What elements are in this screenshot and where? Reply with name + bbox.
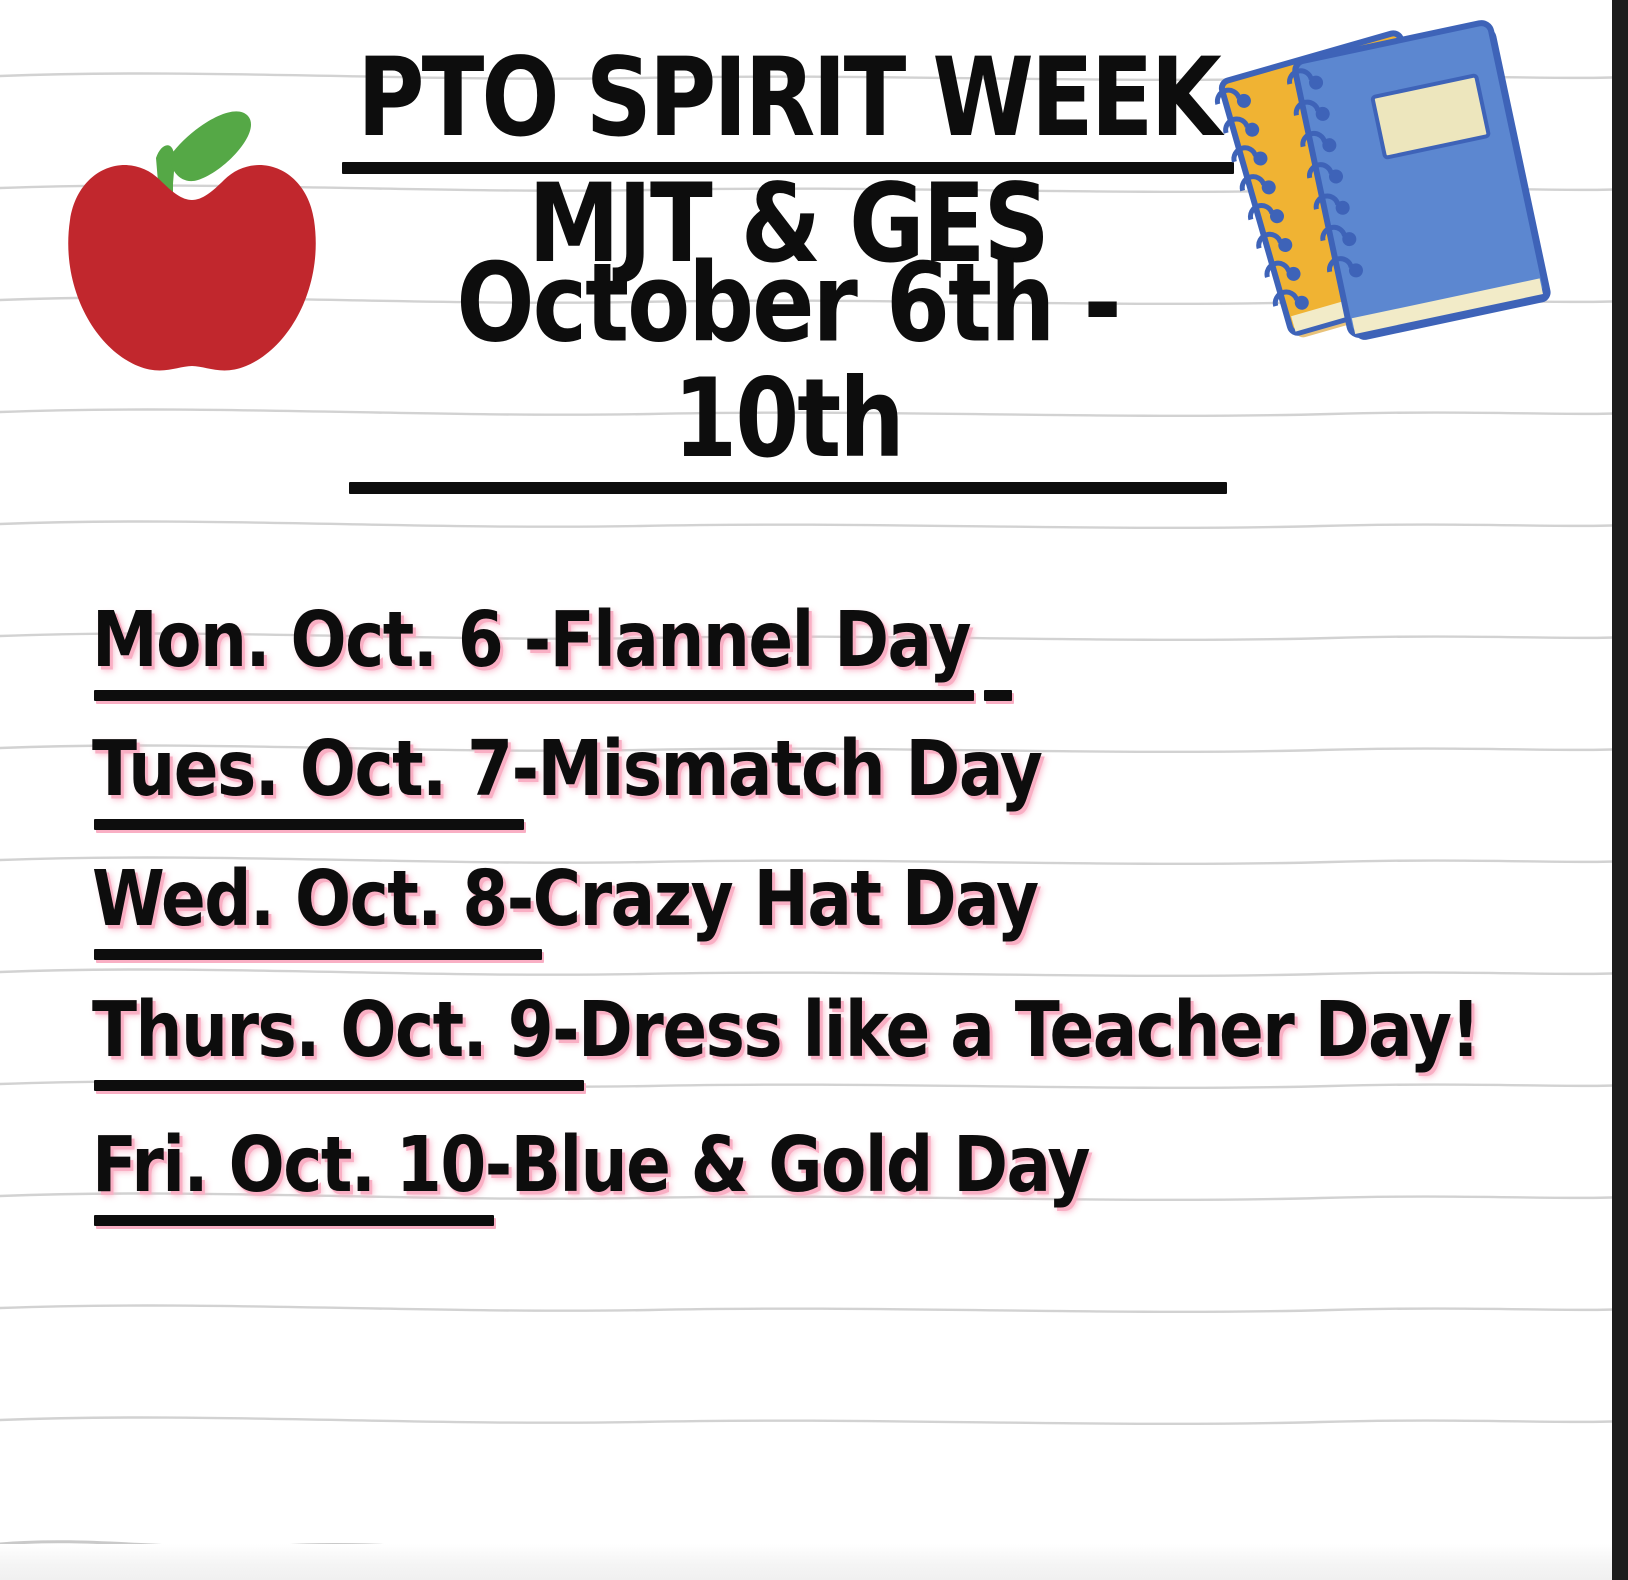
schedule-item-label: Wed. Oct. 8-Crazy Hat Day bbox=[92, 860, 1492, 940]
spirit-week-schedule: Mon. Oct. 6 -Flannel Day Tues. Oct. 7-Mi… bbox=[92, 612, 1492, 1205]
schedule-item-thursday: Thurs. Oct. 9-Dress like a Teacher Day! bbox=[92, 1002, 1492, 1071]
schedule-underline-tail bbox=[984, 690, 1012, 701]
schedule-item-tuesday: Tues. Oct. 7-Mismatch Day bbox=[92, 741, 1492, 810]
schedule-underline bbox=[94, 1215, 494, 1226]
spiral-notebooks-icon bbox=[1205, 8, 1605, 378]
schedule-item-label: Tues. Oct. 7-Mismatch Day bbox=[92, 730, 1492, 810]
title-line-1: PTO SPIRIT WEEK bbox=[338, 58, 1238, 174]
title-line-3: October 6th - 10th bbox=[338, 281, 1238, 494]
title-underline-2 bbox=[349, 482, 1227, 494]
schedule-item-label: Mon. Oct. 6 -Flannel Day bbox=[92, 601, 1492, 681]
poster-header: PTO SPIRIT WEEK MJT & GES October 6th - … bbox=[338, 58, 1238, 504]
poster-date-range: October 6th - 10th bbox=[338, 246, 1238, 476]
apple-icon bbox=[52, 80, 338, 380]
poster-title: PTO SPIRIT WEEK bbox=[357, 40, 1219, 155]
schedule-item-wednesday: Wed. Oct. 8-Crazy Hat Day bbox=[92, 871, 1492, 940]
schedule-underline bbox=[94, 819, 524, 830]
schedule-item-friday: Fri. Oct. 10-Blue & Gold Day bbox=[92, 1137, 1492, 1206]
spirit-week-poster: PTO SPIRIT WEEK MJT & GES October 6th - … bbox=[0, 0, 1628, 1580]
apple-body-shape bbox=[68, 165, 316, 370]
schedule-underline bbox=[94, 690, 974, 701]
schedule-item-monday: Mon. Oct. 6 -Flannel Day bbox=[92, 612, 1492, 681]
schedule-underline bbox=[94, 949, 542, 960]
schedule-underline bbox=[94, 1080, 584, 1091]
schedule-item-label: Fri. Oct. 10-Blue & Gold Day bbox=[92, 1126, 1492, 1206]
schedule-item-label: Thurs. Oct. 9-Dress like a Teacher Day! bbox=[92, 991, 1492, 1071]
page-right-edge bbox=[1612, 0, 1628, 1580]
paper-bottom-shade bbox=[0, 1544, 1628, 1580]
